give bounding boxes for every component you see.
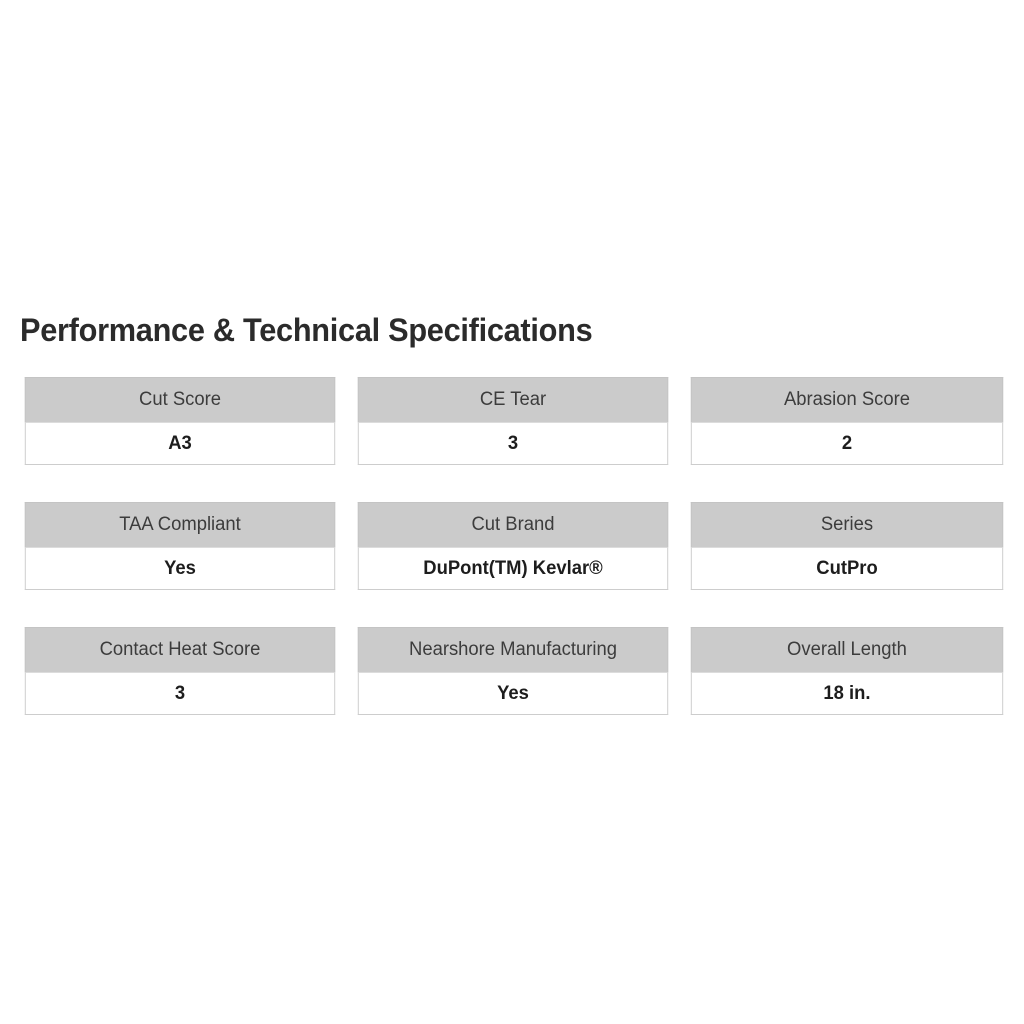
spec-label: Series [691, 502, 1003, 547]
spec-card: Abrasion Score 2 [686, 377, 1008, 465]
spec-value: CutPro [691, 547, 1003, 590]
spec-label: Cut Score [25, 377, 335, 422]
spec-label: Contact Heat Score [25, 627, 335, 672]
spec-value: 3 [25, 672, 335, 715]
spec-value: 18 in. [691, 672, 1003, 715]
spec-label: TAA Compliant [25, 502, 335, 547]
spec-card: Contact Heat Score 3 [20, 627, 340, 715]
spec-value: 2 [691, 422, 1003, 465]
spec-card: Cut Score A3 [20, 377, 340, 465]
spec-label: Overall Length [691, 627, 1003, 672]
spec-sheet-page: Performance & Technical Specifications C… [0, 0, 1024, 1024]
spec-value: A3 [25, 422, 335, 465]
spec-label: Abrasion Score [691, 377, 1003, 422]
spec-label: CE Tear [358, 377, 668, 422]
spec-label: Nearshore Manufacturing [358, 627, 668, 672]
spec-card: Overall Length 18 in. [686, 627, 1008, 715]
spec-value: Yes [25, 547, 335, 590]
spec-value: DuPont(TM) Kevlar® [358, 547, 668, 590]
spec-label: Cut Brand [358, 502, 668, 547]
spec-card: CE Tear 3 [353, 377, 673, 465]
spec-value: 3 [358, 422, 668, 465]
spec-card: Nearshore Manufacturing Yes [353, 627, 673, 715]
specifications-grid: Cut Score A3 CE Tear 3 Abrasion Score 2 … [20, 377, 1008, 715]
spec-card: TAA Compliant Yes [20, 502, 340, 590]
spec-card: Cut Brand DuPont(TM) Kevlar® [353, 502, 673, 590]
spec-card: Series CutPro [686, 502, 1008, 590]
spec-value: Yes [358, 672, 668, 715]
page-title: Performance & Technical Specifications [20, 310, 592, 350]
